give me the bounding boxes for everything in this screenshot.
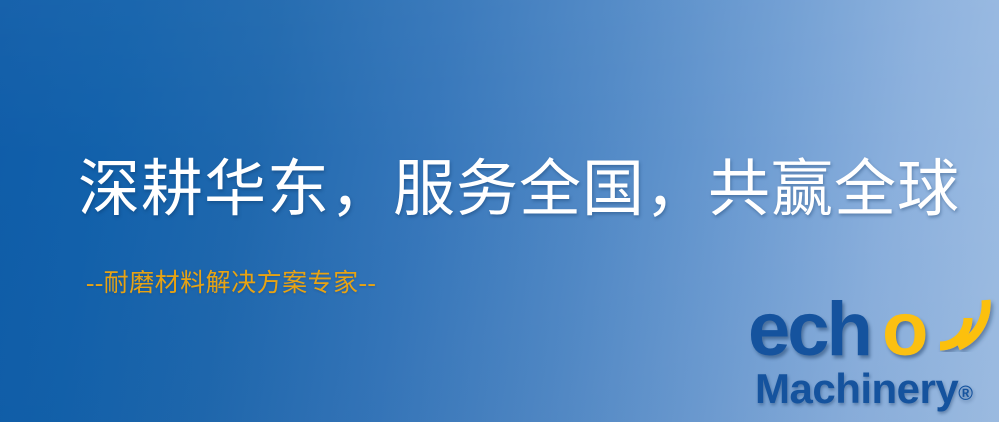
page-title: 深耕华东，服务全国，共赢全球 <box>78 152 960 228</box>
logo-tagline-text: Machinery <box>755 365 958 412</box>
logo-echo-o: o <box>882 292 928 368</box>
signal-waves-icon <box>934 290 999 352</box>
logo-echo-prefix: ech <box>748 292 870 368</box>
company-logo: ech o Machinery® <box>748 296 999 422</box>
promo-banner: 深耕华东，服务全国，共赢全球 --耐磨材料解决方案专家-- ech o Mach… <box>0 0 999 422</box>
logo-wordmark: ech o <box>748 296 948 368</box>
logo-tagline: Machinery® <box>755 366 973 417</box>
page-subtitle: --耐磨材料解决方案专家-- <box>86 268 376 300</box>
registered-trademark-icon: ® <box>958 383 973 405</box>
